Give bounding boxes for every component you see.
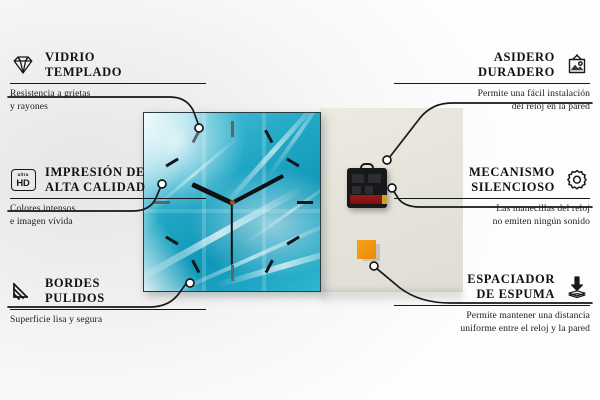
feature-header: ASIDERO DURADERO	[394, 50, 590, 83]
feature-divider	[394, 305, 590, 306]
feature-mecanismo-silencioso: MECANISMO SILENCIOSO Las manecillas del …	[394, 165, 590, 228]
second-hand	[231, 203, 233, 265]
feather-streak	[266, 112, 321, 179]
movement-detail	[368, 174, 381, 183]
feature-title: ASIDERO DURADERO	[478, 50, 555, 80]
minute-hand	[231, 174, 284, 205]
feather-streak	[221, 112, 321, 209]
hanging-frame-icon	[564, 52, 590, 78]
movement-detail	[352, 186, 361, 194]
movement-detail	[365, 186, 373, 194]
hour-marker-12	[231, 121, 234, 137]
feature-asidero-duradero: ASIDERO DURADERO Permite una fácil insta…	[394, 50, 590, 113]
feature-title: MECANISMO SILENCIOSO	[469, 165, 555, 195]
quartz-movement	[347, 168, 387, 208]
feature-impresion-alta-calidad: ultra HD IMPRESIÓN DE ALTA CALIDAD Color…	[10, 165, 206, 228]
feature-divider	[394, 83, 590, 84]
hour-marker-3	[297, 201, 313, 204]
ultra-hd-icon: ultra HD	[10, 167, 36, 193]
feature-header: VIDRIO TEMPLADO	[10, 50, 206, 83]
foam-spacer	[357, 240, 376, 259]
hour-marker-7	[192, 259, 201, 273]
feature-title: IMPRESIÓN DE ALTA CALIDAD	[45, 165, 146, 195]
hour-marker-6	[231, 265, 234, 281]
feature-title: BORDES PULIDOS	[45, 276, 105, 306]
feature-title: ESPACIADOR DE ESPUMA	[467, 272, 555, 302]
feature-divider	[394, 198, 590, 199]
feature-header: ultra HD IMPRESIÓN DE ALTA CALIDAD	[10, 165, 206, 198]
arrow-down-layers-icon	[564, 274, 590, 300]
hour-marker-11	[192, 129, 201, 143]
feature-divider	[10, 198, 206, 199]
feature-description: Superficie lisa y segura	[10, 314, 206, 327]
feature-divider	[10, 83, 206, 84]
glass-seam	[262, 113, 266, 291]
battery-terminal	[382, 195, 387, 204]
feature-description: Resistencia a grietas y rayones	[10, 88, 206, 113]
feature-description: Colores intensos e imagen vívida	[10, 203, 206, 228]
feature-header: BORDES PULIDOS	[10, 276, 206, 309]
hour-marker-2	[286, 158, 299, 167]
movement-detail	[352, 174, 364, 183]
battery	[350, 195, 384, 204]
hour-marker-8	[165, 236, 178, 245]
product-infographic: VIDRIO TEMPLADO Resistencia a grietas y …	[0, 0, 600, 400]
movement-hanger	[360, 163, 374, 170]
feature-description: Permite mantener una distancia uniforme …	[394, 310, 590, 335]
feature-description: Permite una fácil instalación del reloj …	[394, 88, 590, 113]
feature-divider	[10, 309, 206, 310]
hd-badge: ultra HD	[11, 169, 36, 191]
feature-espaciador-de-espuma: ESPACIADOR DE ESPUMA Permite mantener un…	[394, 272, 590, 335]
feature-header: ESPACIADOR DE ESPUMA	[394, 272, 590, 305]
feature-description: Las manecillas del reloj no emiten ningú…	[394, 203, 590, 228]
feature-vidrio-templado: VIDRIO TEMPLADO Resistencia a grietas y …	[10, 50, 206, 113]
feature-header: MECANISMO SILENCIOSO	[394, 165, 590, 198]
feature-bordes-pulidos: BORDES PULIDOS Superficie lisa y segura	[10, 276, 206, 327]
hd-badge-main-label: HD	[16, 178, 29, 187]
diamond-icon	[10, 52, 36, 78]
hand-center-cap	[230, 200, 235, 205]
feature-title: VIDRIO TEMPLADO	[45, 50, 122, 80]
hour-marker-4	[286, 236, 299, 245]
gear-icon	[564, 167, 590, 193]
polished-edges-icon	[10, 278, 36, 304]
